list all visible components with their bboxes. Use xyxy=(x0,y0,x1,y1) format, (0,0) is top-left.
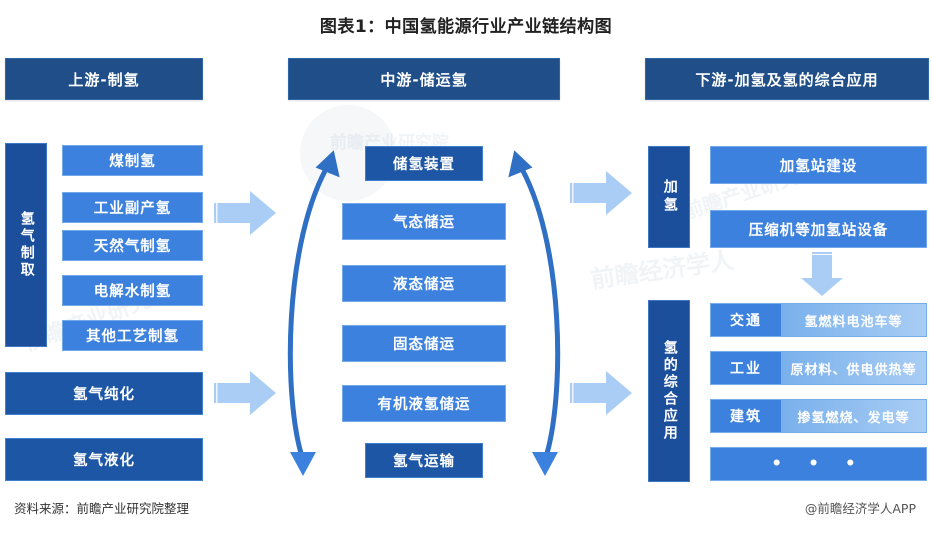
downstream-header: 下游-加氢及氢的综合应用 xyxy=(645,58,929,100)
arrow-mid-to-downstream-bottom xyxy=(570,365,636,421)
midstream-bottom-box[interactable]: 氢气运输 xyxy=(365,443,483,478)
downstream-refuel-label: 加氢 xyxy=(648,146,690,248)
upstream-extra-1[interactable]: 氢气液化 xyxy=(5,438,203,481)
arrow-refuel-to-apps xyxy=(795,252,849,298)
upstream-item-1[interactable]: 工业副产氢 xyxy=(62,192,203,223)
upstream-extra-0[interactable]: 氢气纯化 xyxy=(5,372,203,415)
arrow-upstream-to-mid-bottom xyxy=(214,365,280,421)
downstream-app-row-0[interactable]: 交通 氢燃料电池车等 xyxy=(710,303,927,337)
upstream-item-0[interactable]: 煤制氢 xyxy=(62,145,203,176)
credit-note: @前瞻经济学人APP xyxy=(805,498,916,517)
app-desc-2: 掺氢燃烧、发电等 xyxy=(781,400,926,432)
upstream-item-2[interactable]: 天然气制氢 xyxy=(62,230,203,261)
source-note: 资料来源：前瞻产业研究院整理 xyxy=(14,498,189,517)
midstream-top-box[interactable]: 储氢装置 xyxy=(365,146,483,181)
upstream-item-4[interactable]: 其他工艺制氢 xyxy=(62,320,203,351)
midstream-item-3[interactable]: 有机液氢储运 xyxy=(342,385,506,422)
midstream-header: 中游-储运氢 xyxy=(288,58,560,100)
downstream-refuel-item-1[interactable]: 压缩机等加氢站设备 xyxy=(710,210,927,248)
downstream-refuel-item-0[interactable]: 加氢站建设 xyxy=(710,146,927,184)
downstream-more-row[interactable]: • • • xyxy=(710,447,927,481)
app-category-0: 交通 xyxy=(711,304,781,336)
midstream-item-0[interactable]: 气态储运 xyxy=(342,203,506,240)
watermark-text-2: 前瞻经济学人 xyxy=(588,240,735,295)
downstream-app-row-2[interactable]: 建筑 掺氢燃烧、发电等 xyxy=(710,399,927,433)
app-desc-1: 原材料、供电供热等 xyxy=(781,352,926,384)
midstream-item-1[interactable]: 液态储运 xyxy=(342,265,506,302)
downstream-apps-label: 氢的综合应用 xyxy=(648,300,690,482)
arrow-mid-to-downstream-top xyxy=(570,165,636,221)
app-category-2: 建筑 xyxy=(711,400,781,432)
app-category-1: 工业 xyxy=(711,352,781,384)
upstream-item-3[interactable]: 电解水制氢 xyxy=(62,275,203,306)
midstream-item-2[interactable]: 固态储运 xyxy=(342,325,506,362)
upstream-group-label: 氢气制取 xyxy=(5,143,47,347)
upstream-header: 上游-制氢 xyxy=(5,58,203,100)
page-title: 图表1：中国氢能源行业产业链结构图 xyxy=(0,12,932,37)
arrow-upstream-to-mid-top xyxy=(214,185,280,241)
downstream-app-row-1[interactable]: 工业 原材料、供电供热等 xyxy=(710,351,927,385)
app-desc-0: 氢燃料电池车等 xyxy=(781,304,926,336)
